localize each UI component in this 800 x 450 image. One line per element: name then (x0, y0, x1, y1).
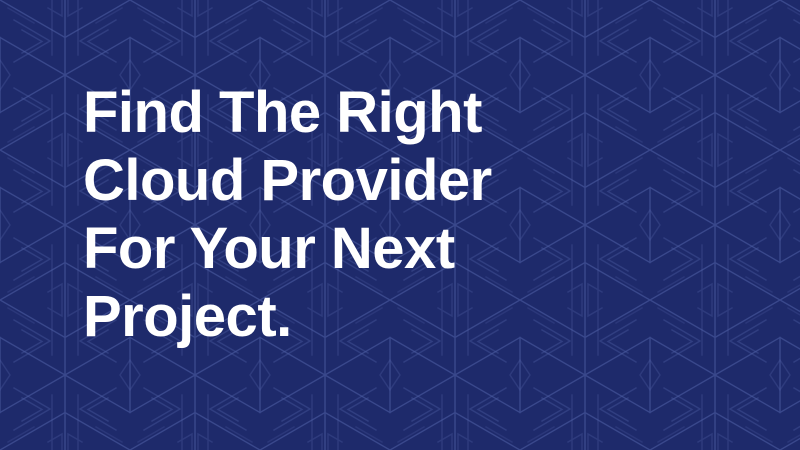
hero-banner: Find The Right Cloud Provider For Your N… (0, 0, 800, 450)
headline-line-2: Cloud Provider (83, 147, 743, 215)
headline-line-3: For Your Next (83, 215, 743, 283)
headline-line-1: Find The Right (83, 79, 743, 147)
headline-block: Find The Right Cloud Provider For Your N… (83, 79, 743, 351)
headline-line-4: Project. (83, 283, 743, 351)
